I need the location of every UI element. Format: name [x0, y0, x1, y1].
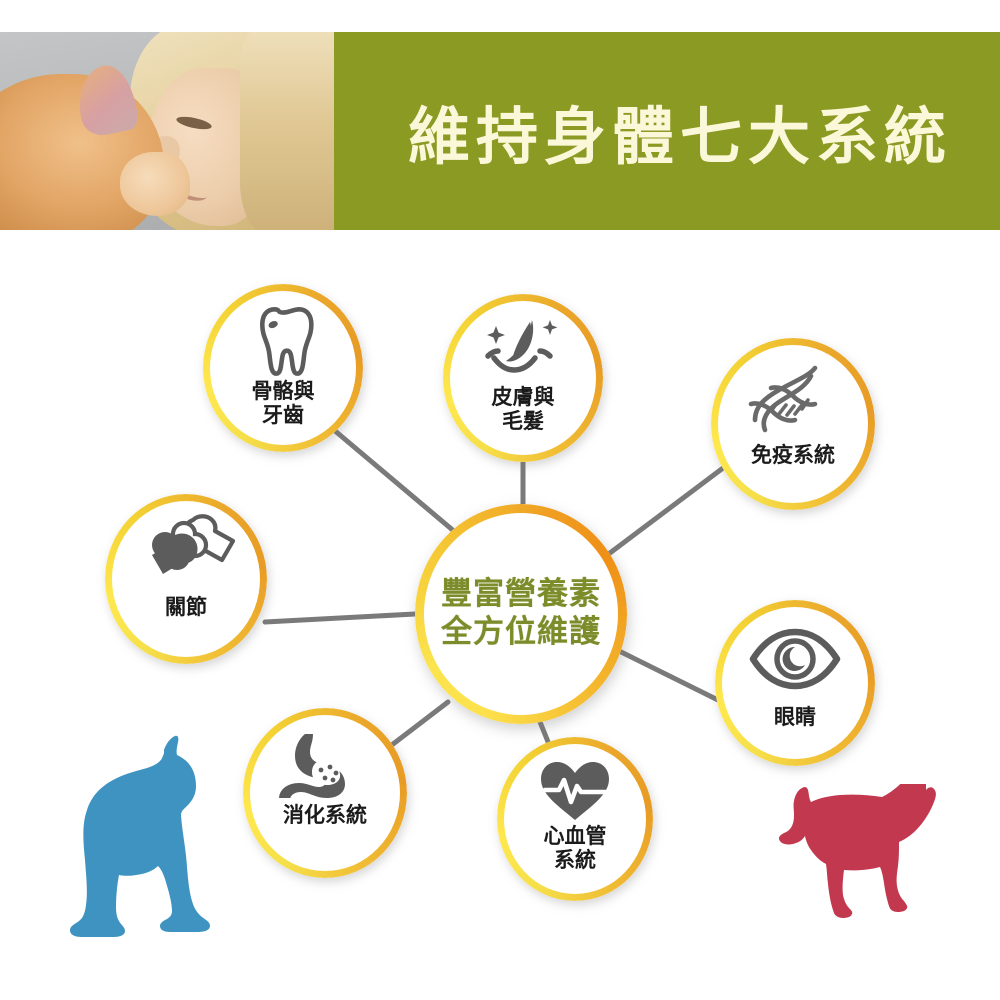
node-cardio[interactable]: 心血管 系統 [497, 737, 653, 901]
stomach-icon [279, 730, 371, 798]
cat-and-woman-photo [0, 32, 334, 230]
link-eyes [605, 644, 722, 702]
hair-follicle-icon [480, 316, 566, 384]
node-label-digestive: 消化系統 [283, 804, 367, 828]
node-label-eyes: 眼睛 [774, 706, 816, 730]
node-label-cardio: 心血管 系統 [544, 825, 607, 872]
node-label-joints: 關節 [165, 596, 207, 620]
link-bones-teeth [334, 430, 455, 532]
link-immune [598, 462, 731, 562]
node-joints[interactable]: 關節 [105, 494, 267, 664]
node-digestive[interactable]: 消化系統 [243, 708, 407, 878]
bone-joint-icon [135, 514, 237, 586]
node-label-bones-teeth: 骨骼與 牙齒 [252, 380, 315, 427]
node-label-skin-hair: 皮膚與 毛髮 [492, 386, 555, 433]
tooth-icon [248, 306, 318, 378]
node-eyes[interactable]: 眼睛 [715, 600, 875, 766]
link-joints [265, 614, 415, 622]
dna-icon [741, 364, 845, 436]
node-center-nutrients[interactable]: 豐富營養素 全方位維護 [415, 504, 627, 724]
node-bones-teeth[interactable]: 骨骼與 牙齒 [203, 284, 363, 452]
cat-silhouette [748, 784, 948, 929]
header-banner: 維持身體七大系統 [0, 32, 1000, 230]
heart-pulse-icon [537, 757, 613, 823]
node-label-immune: 免疫系統 [751, 444, 835, 468]
page-root: 維持身體七大系統 骨骼與 牙齒 [0, 0, 1000, 1000]
eye-icon [747, 628, 843, 690]
photo-cat-muzzle [120, 152, 190, 216]
page-title: 維持身體七大系統 [380, 32, 980, 230]
center-label: 豐富營養素 全方位維護 [441, 576, 601, 652]
node-skin-hair[interactable]: 皮膚與 毛髮 [443, 294, 603, 462]
node-immune[interactable]: 免疫系統 [711, 338, 875, 510]
seven-systems-diagram: 骨骼與 牙齒 皮膚與 毛髮 [0, 232, 1000, 1000]
dog-silhouette [48, 732, 228, 972]
photo-woman-hair-front [240, 32, 334, 230]
